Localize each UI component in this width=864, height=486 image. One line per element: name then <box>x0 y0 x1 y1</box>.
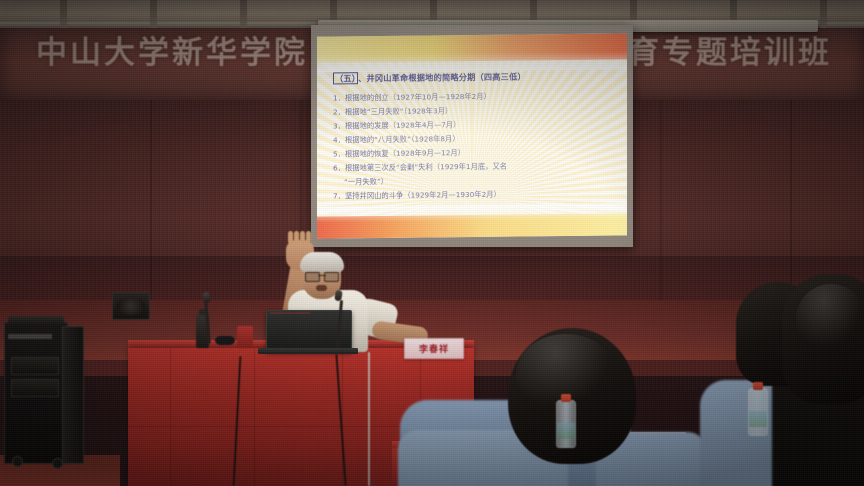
wall-panel-seam <box>790 100 792 310</box>
cloth-fold <box>170 348 171 486</box>
equipment-rack-side <box>62 326 84 464</box>
rack-panel <box>11 379 59 397</box>
laptop-hinge <box>270 312 310 314</box>
rack-caster <box>12 456 23 467</box>
stage-loudspeaker <box>112 292 150 320</box>
slide-title-rest: 、井冈山革命根据地的简略分期（四高三低） <box>358 71 526 83</box>
eyeglasses-icon <box>305 272 339 280</box>
cable-white <box>368 352 370 486</box>
slide-bullet: 7．坚持井冈山的斗争（1929年2月—1930年2月） <box>333 187 611 204</box>
slide-title: （五）、井冈山革命根据地的简略分期（四高三低） <box>333 70 611 85</box>
bottle-cap <box>753 382 763 390</box>
bottle-label <box>749 411 767 427</box>
finger <box>294 231 299 244</box>
wall-panel-seam <box>150 100 152 310</box>
water-bottle[interactable] <box>748 388 768 436</box>
wall-panel-seam <box>660 100 662 310</box>
red-cup <box>237 326 253 348</box>
equipment-rack-top <box>8 316 64 326</box>
equipment-rack-label <box>8 334 52 339</box>
nameplate-speaker: 李春祥 <box>404 338 464 359</box>
bottle-label <box>557 423 575 439</box>
presentation-slide: （五）、井冈山革命根据地的简略分期（四高三低） 1．根据地的创立（1927年10… <box>317 33 627 238</box>
rack-panel <box>11 357 59 375</box>
banner-text-left: 中山大学新华学院 <box>36 38 308 69</box>
computer-mouse <box>215 336 235 345</box>
speaker-hair <box>300 252 344 272</box>
slide-content: （五）、井冈山革命根据地的简略分期（四高三低） 1．根据地的创立（1927年10… <box>317 33 627 238</box>
slide-bullet-list: 1．根据地的创立（1927年10月—1928年2月） 2．根据地“三月失败”（1… <box>333 89 611 204</box>
banner-text-right: 育专题培训班 <box>628 38 832 69</box>
equipment-rack <box>4 322 68 464</box>
speaker-mouth <box>316 285 327 291</box>
water-bottle[interactable] <box>556 400 576 448</box>
cloth-fold <box>254 348 255 486</box>
projection-screen: （五）、井冈山革命根据地的简略分期（四高三低） 1．根据地的创立（1927年10… <box>311 25 633 247</box>
slide-title-prefix: （五） <box>333 72 358 84</box>
lecture-hall-scene: 中山大学新华学院 育专题培训班 （五）、井冈山革命根据地的简略分期（四高三低） … <box>0 0 864 486</box>
laptop-base <box>258 348 358 354</box>
eyeglass-lens-right <box>324 272 339 282</box>
audience-member-far-right-head <box>782 274 864 404</box>
bottle-cap <box>561 394 571 402</box>
finger <box>300 231 305 244</box>
finger <box>306 231 311 244</box>
rack-caster <box>52 458 63 469</box>
eyeglass-lens-left <box>305 272 320 282</box>
finger <box>288 231 293 244</box>
